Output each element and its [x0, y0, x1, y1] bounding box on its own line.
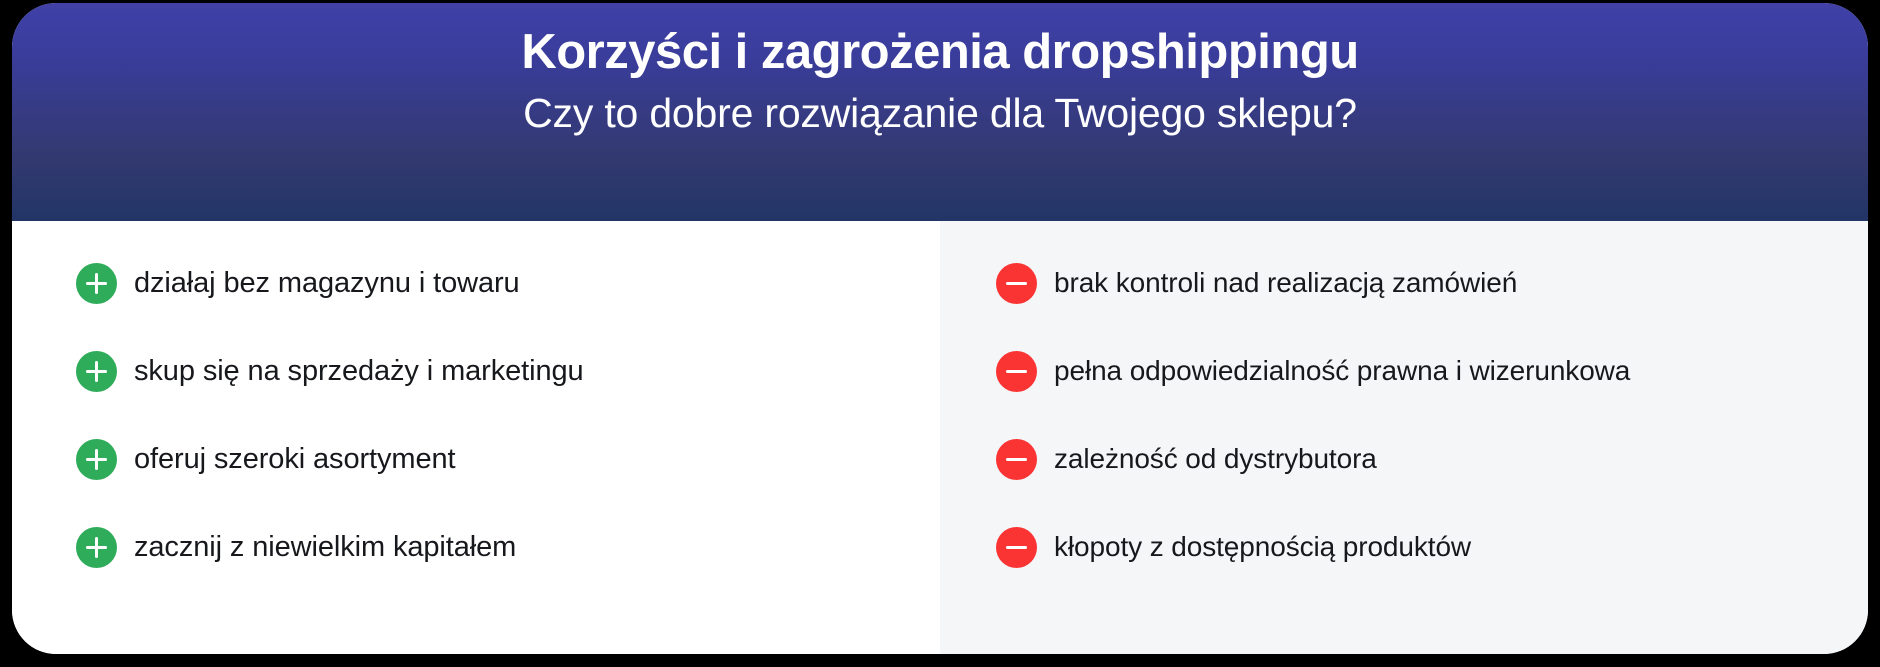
- info-card: Korzyści i zagrożenia dropshippingu Czy …: [12, 3, 1868, 654]
- minus-icon: [996, 439, 1037, 480]
- plus-icon: [76, 351, 117, 392]
- list-item-label: działaj bez magazynu i towaru: [134, 267, 520, 300]
- list-item: zacznij z niewielkim kapitałem: [76, 503, 940, 591]
- plus-icon: [76, 439, 117, 480]
- page-title: Korzyści i zagrożenia dropshippingu: [521, 25, 1358, 80]
- list-item: działaj bez magazynu i towaru: [76, 239, 940, 327]
- list-item: pełna odpowiedzialność prawna i wizerunk…: [996, 327, 1868, 415]
- list-item: oferuj szeroki asortyment: [76, 415, 940, 503]
- list-item-label: oferuj szeroki asortyment: [134, 443, 455, 476]
- list-item: skup się na sprzedaży i marketingu: [76, 327, 940, 415]
- list-item-label: pełna odpowiedzialność prawna i wizerunk…: [1054, 355, 1630, 387]
- pros-column: działaj bez magazynu i towaru skup się n…: [12, 221, 940, 654]
- list-item: kłopoty z dostępnością produktów: [996, 503, 1868, 591]
- list-item: brak kontroli nad realizacją zamówień: [996, 239, 1868, 327]
- list-item-label: kłopoty z dostępnością produktów: [1054, 531, 1471, 563]
- list-item-label: zacznij z niewielkim kapitałem: [134, 531, 516, 564]
- plus-icon: [76, 263, 117, 304]
- minus-icon: [996, 527, 1037, 568]
- minus-icon: [996, 263, 1037, 304]
- list-item: zależność od dystrybutora: [996, 415, 1868, 503]
- plus-icon: [76, 527, 117, 568]
- list-item-label: brak kontroli nad realizacją zamówień: [1054, 267, 1517, 299]
- cons-column: brak kontroli nad realizacją zamówień pe…: [940, 221, 1868, 654]
- card-body: działaj bez magazynu i towaru skup się n…: [12, 221, 1868, 654]
- minus-icon: [996, 351, 1037, 392]
- page-subtitle: Czy to dobre rozwiązanie dla Twojego skl…: [523, 90, 1357, 137]
- list-item-label: zależność od dystrybutora: [1054, 443, 1377, 475]
- card-header: Korzyści i zagrożenia dropshippingu Czy …: [12, 3, 1868, 221]
- list-item-label: skup się na sprzedaży i marketingu: [134, 355, 584, 388]
